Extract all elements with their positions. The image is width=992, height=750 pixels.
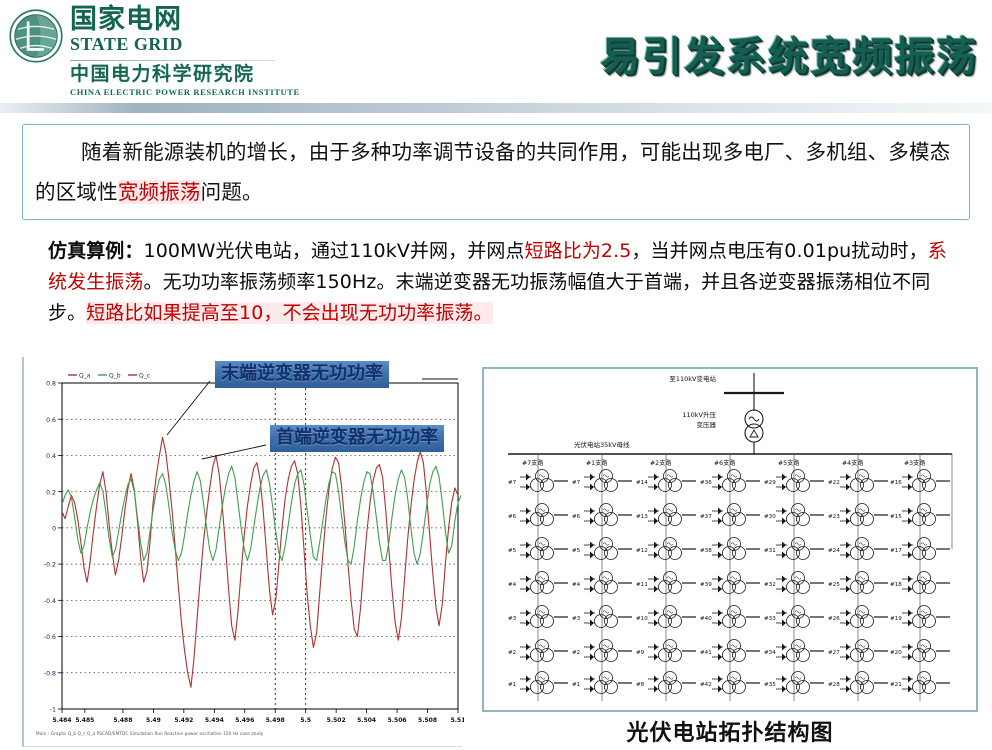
paragraph-highlight-scr: 短路比为2.5 xyxy=(525,240,632,262)
svg-text:5.488: 5.488 xyxy=(113,717,132,724)
svg-text:#7支路: #7支路 xyxy=(522,459,544,467)
svg-text:#16: #16 xyxy=(890,480,902,486)
svg-text:-0.2: -0.2 xyxy=(44,562,56,569)
svg-text:#2支路: #2支路 xyxy=(650,459,672,467)
paragraph-seg4: 。无功功率振荡频率150Hz。末端逆变器无功振荡幅值大于 xyxy=(144,271,644,293)
chart-footnote: Main : Graphs Q_b Q_c Q_a PSCAD/EMTDC Si… xyxy=(36,731,456,736)
svg-text:#40: #40 xyxy=(700,616,712,622)
svg-text:#32: #32 xyxy=(764,582,776,588)
svg-text:#3支路: #3支路 xyxy=(904,459,926,467)
callout-tail-inverter: 末端逆变器无功功率 xyxy=(215,361,389,388)
svg-text:#5: #5 xyxy=(508,548,517,554)
svg-text:#17: #17 xyxy=(890,548,902,554)
svg-text:#11: #11 xyxy=(636,582,648,588)
svg-text:5.494: 5.494 xyxy=(205,717,224,724)
svg-text:Q_a: Q_a xyxy=(79,373,91,380)
svg-text:#9: #9 xyxy=(636,650,645,656)
svg-text:#4: #4 xyxy=(572,582,581,588)
paragraph-highlight-scr10: 短路比如果提高至10，不会出现无功功率振荡。 xyxy=(86,302,492,324)
svg-text:5.502: 5.502 xyxy=(327,717,346,724)
svg-text:#18: #18 xyxy=(890,582,902,588)
svg-text:#6: #6 xyxy=(572,514,581,520)
summary-note-text: 随着新能源装机的增长，由于多种功率调节设备的共同作用，可能出现多电厂、多机组、多… xyxy=(23,125,969,212)
svg-text:Q_c: Q_c xyxy=(139,373,150,380)
paragraph-label: 仿真算例： xyxy=(48,240,144,262)
logo-chinese-name: 国家电网 xyxy=(70,6,300,34)
svg-text:#3: #3 xyxy=(572,616,581,622)
svg-text:5.508: 5.508 xyxy=(418,717,437,724)
svg-text:0.6: 0.6 xyxy=(46,417,56,424)
svg-text:至110kV变电站: 至110kV变电站 xyxy=(669,374,716,383)
svg-text:#1: #1 xyxy=(508,682,517,688)
svg-text:#33: #33 xyxy=(764,616,776,622)
topology-caption: 光伏电站拓扑结构图 xyxy=(482,715,978,747)
svg-text:-1: -1 xyxy=(50,707,56,714)
svg-text:#20: #20 xyxy=(890,650,902,656)
svg-text:#41: #41 xyxy=(700,650,712,656)
svg-text:#6: #6 xyxy=(508,514,517,520)
svg-text:-0.6: -0.6 xyxy=(44,634,56,641)
svg-text:#26: #26 xyxy=(828,616,840,622)
svg-text:#25: #25 xyxy=(828,582,840,588)
svg-text:#42: #42 xyxy=(700,682,712,688)
svg-text:#2: #2 xyxy=(572,650,580,656)
note-line2-b: 问题。 xyxy=(201,180,263,204)
svg-text:#37: #37 xyxy=(700,514,712,520)
slide-header: 国家电网 STATE GRID 中国电力科学研究院 CHINA ELECTRIC… xyxy=(0,0,992,100)
institute-chinese-name: 中国电力科学研究院 xyxy=(70,64,300,85)
svg-text:#36: #36 xyxy=(700,480,712,486)
svg-text:光伏电站35kV母线: 光伏电站35kV母线 xyxy=(574,440,630,449)
svg-text:#29: #29 xyxy=(764,480,776,486)
page-title: 易引发系统宽频振荡 xyxy=(600,24,978,82)
svg-text:5.506: 5.506 xyxy=(388,717,407,724)
svg-text:0.2: 0.2 xyxy=(46,489,56,496)
svg-text:0: 0 xyxy=(52,525,56,532)
svg-text:#39: #39 xyxy=(700,582,712,588)
chart-canvas: 0.80.60.40.20-0.2-0.4-0.6-0.8-15.4845.48… xyxy=(24,357,464,747)
svg-text:#34: #34 xyxy=(764,650,776,656)
paragraph-seg3: 0.01pu扰动时， xyxy=(784,240,927,262)
svg-text:#28: #28 xyxy=(828,682,840,688)
svg-text:5.484: 5.484 xyxy=(53,717,72,724)
svg-text:5.51: 5.51 xyxy=(451,717,464,724)
state-grid-emblem-icon xyxy=(8,8,64,64)
svg-text:#8: #8 xyxy=(636,682,645,688)
svg-text:#38: #38 xyxy=(700,548,712,554)
svg-text:110kV升压: 110kV升压 xyxy=(682,410,716,419)
callout-head-inverter: 首端逆变器无功功率 xyxy=(270,425,444,452)
svg-text:#4: #4 xyxy=(508,582,517,588)
logo-divider xyxy=(70,60,275,61)
svg-text:#3: #3 xyxy=(508,616,517,622)
svg-text:5.5: 5.5 xyxy=(300,717,311,724)
svg-text:#23: #23 xyxy=(828,514,840,520)
svg-text:5.49: 5.49 xyxy=(146,717,161,724)
svg-text:5.496: 5.496 xyxy=(235,717,254,724)
svg-text:#5: #5 xyxy=(572,548,581,554)
svg-text:5.504: 5.504 xyxy=(357,717,376,724)
svg-text:#30: #30 xyxy=(764,514,776,520)
svg-text:#1支路: #1支路 xyxy=(586,459,608,467)
topology-canvas: 至110kV变电站110kV升压变压器光伏电站35kV母线#7支路#7#6#5#… xyxy=(484,369,976,710)
svg-text:#10: #10 xyxy=(636,616,648,622)
reactive-power-chart: 0.80.60.40.20-0.2-0.4-0.6-0.8-15.4845.48… xyxy=(22,357,462,747)
svg-text:#5支路: #5支路 xyxy=(778,459,800,467)
svg-text:5.498: 5.498 xyxy=(266,717,285,724)
paragraph-seg2: ，当并网点电压有 xyxy=(631,240,784,262)
svg-text:#7: #7 xyxy=(508,480,517,486)
svg-text:-0.8: -0.8 xyxy=(44,670,56,677)
summary-note-box: 随着新能源装机的增长，由于多种功率调节设备的共同作用，可能出现多电厂、多机组、多… xyxy=(22,124,970,220)
svg-text:#1: #1 xyxy=(572,682,581,688)
svg-text:0.4: 0.4 xyxy=(46,453,56,460)
note-highlight-term: 宽频振荡 xyxy=(118,180,201,204)
svg-text:5.492: 5.492 xyxy=(174,717,193,724)
paragraph-seg1: 100MW光伏电站，通过110kV并网，并网点 xyxy=(144,240,525,262)
svg-text:#15: #15 xyxy=(890,514,902,520)
svg-text:Q_b: Q_b xyxy=(109,373,121,380)
svg-text:#6支路: #6支路 xyxy=(714,459,736,467)
svg-text:#4支路: #4支路 xyxy=(842,459,864,467)
svg-text:#2: #2 xyxy=(508,650,516,656)
institute-english-name: CHINA ELECTRIC POWER RESEARCH INSTITUTE xyxy=(70,87,300,97)
svg-text:#12: #12 xyxy=(636,548,648,554)
pv-plant-topology-diagram: 至110kV变电站110kV升压变压器光伏电站35kV母线#7支路#7#6#5#… xyxy=(482,367,978,712)
logo-english-name: STATE GRID xyxy=(70,35,300,55)
svg-text:#14: #14 xyxy=(636,480,648,486)
header-divider-bar xyxy=(0,103,992,113)
svg-text:5.485: 5.485 xyxy=(75,717,94,724)
svg-text:#31: #31 xyxy=(764,548,776,554)
svg-text:#22: #22 xyxy=(828,480,840,486)
note-line1: 随着新能源装机的增长，由于多种功率调节设备的共同作用，可能出现多电厂、 xyxy=(81,140,806,164)
svg-text:#35: #35 xyxy=(764,682,776,688)
svg-text:#7: #7 xyxy=(572,480,581,486)
state-grid-logo-block: 国家电网 STATE GRID 中国电力科学研究院 CHINA ELECTRIC… xyxy=(8,6,300,97)
svg-text:#24: #24 xyxy=(828,548,840,554)
svg-text:-0.4: -0.4 xyxy=(44,598,56,605)
simulation-paragraph: 仿真算例：100MW光伏电站，通过110kV并网，并网点短路比为2.5，当并网点… xyxy=(48,236,960,329)
svg-text:#13: #13 xyxy=(636,514,648,520)
svg-text:#19: #19 xyxy=(890,616,902,622)
svg-text:#21: #21 xyxy=(890,682,902,688)
svg-text:0.8: 0.8 xyxy=(46,381,56,388)
svg-text:#27: #27 xyxy=(828,650,840,656)
svg-text:变压器: 变压器 xyxy=(697,420,717,429)
